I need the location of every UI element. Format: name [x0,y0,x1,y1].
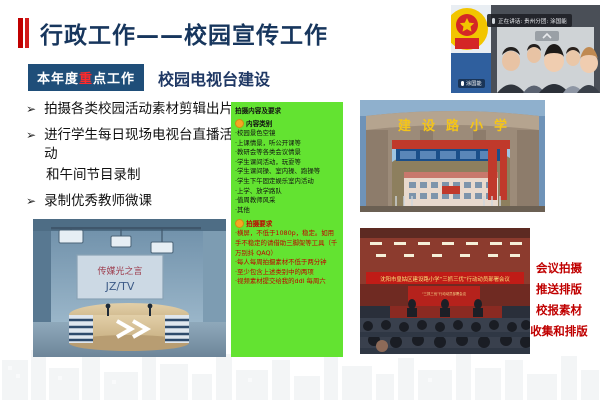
requirement-line: ·校园景色空镜 [235,129,339,139]
svg-text:小: 小 [470,119,483,134]
speaking-status-bar: 正在讲话: 贵州分团: 涂国能 [487,14,572,27]
school-gate-photo: 建设 路小学 [360,100,545,212]
svg-text:沈阳市皇姑区建设路小学“三抓三优”行动动员部署会议: 沈阳市皇姑区建设路小学“三抓三优”行动动员部署会议 [380,275,510,283]
list-item: ➢ 进行学生每日现场电视台直播活动 [26,126,241,164]
video-conference-window[interactable]: 正在讲话: 贵州分团: 涂国能 涂国能 [451,5,600,93]
list-item-label: 进行学生每日现场电视台直播活动 [44,126,241,164]
page-title: 行政工作——校园宣传工作 [40,16,328,50]
svg-text:传媒光之言: 传媒光之言 [97,265,142,277]
slide-title-row: 行政工作——校园宣传工作 [18,16,328,50]
right-label-list: 会议拍摄 推送排版 校报素材 收集和排版 [521,258,597,342]
requirement-line: ·每人每周拍摄素材不低于两分钟 [235,258,339,268]
microphone-icon [461,81,464,86]
speaking-status-text: 正在讲话: 贵州分团: 涂国能 [498,17,567,25]
content-category-heading: 内容类别 [235,118,339,128]
svg-text:JZ/TV: JZ/TV [105,280,135,293]
subtitle-row: 本年度重点工作 校园电视台建设 [28,64,270,91]
svg-text:路: 路 [446,118,460,134]
requirements-title: 拍摄内容及要求 [235,105,339,115]
svg-text:建: 建 [398,118,411,134]
auditorium-meeting-photo: 沈阳市皇姑区建设路小学“三抓三优”行动动员部署会议 “三抓三优”行动动员部署会议 [360,228,530,354]
section-subtitle: 校园电视台建设 [158,66,270,90]
status-badge: 本年度重点工作 [28,64,144,91]
right-label: 收集和排版 [521,321,597,342]
list-item-label: 拍摄各类校园活动素材剪辑出片 [44,100,233,119]
requirements-panel: 拍摄内容及要求 内容类别 ·校园景色空镜 ·上课情景，听公开课等 ·教研会等各类… [231,102,343,357]
list-item-label: 录制优秀教师微课 [44,192,152,211]
svg-text:设: 设 [422,119,436,134]
arrow-bullet-icon: ➢ [26,100,36,118]
requirement-line: ·学生课间活动，玩耍等 [235,158,339,168]
requirement-line: ·其他 [235,206,339,216]
participant-name-badge: 涂国能 [458,79,485,88]
requirement-line: ·教研会等各类会议情景 [235,148,339,158]
right-label: 会议拍摄 [521,258,597,279]
right-label: 推送排版 [521,279,597,300]
tv-studio-photo: 传媒光之言 JZ/TV [33,219,226,357]
requirement-line: ·视频素材提交给我的ddl 每周六 [235,277,339,287]
list-item: ➢ 录制优秀教师微课 [26,192,241,211]
orange-dot-icon [235,219,244,228]
list-item-continuation: 和午间节目录制 [26,166,241,185]
orange-dot-icon [235,119,244,128]
microphone-icon [492,18,495,24]
requirement-line: ·至少包含上述类别中的两项 [235,268,339,278]
svg-text:学: 学 [494,118,507,134]
requirement-line: ·值周教师风采 [235,196,339,206]
presentation-slide: 行政工作——校园宣传工作 本年度重点工作 校园电视台建设 ➢ 拍摄各类校园活动素… [0,0,600,400]
requirement-line: ·上课情景，听公开课等 [235,139,339,149]
title-accent-bars-icon [18,18,29,48]
svg-text:“三抓三优”行动动员部署会议: “三抓三优”行动动员部署会议 [422,291,467,296]
requirement-line: ·横屏，不低于1080p，稳定。如用手不稳定的请借助三脚架等工具（千万别抖 QA… [235,229,339,258]
participant-name-label: 涂国能 [466,80,482,87]
right-label: 校报素材 [521,300,597,321]
list-item-label: 和午间节目录制 [46,166,141,185]
list-item: ➢ 拍摄各类校园活动素材剪辑出片 [26,100,241,119]
shooting-requirement-heading: 拍摄要求 [235,218,339,228]
bullet-list: ➢ 拍摄各类校园活动素材剪辑出片 ➢ 进行学生每日现场电视台直播活动 和午间节目… [26,100,241,218]
arrow-bullet-icon: ➢ [26,192,36,210]
requirement-line: ·学生下午固定娱乐室内活动 [235,177,339,187]
requirement-line: ·学生课间操、室内操、跑操等 [235,167,339,177]
arrow-bullet-icon: ➢ [26,126,36,144]
requirement-line: ·上学、放学路队 [235,187,339,197]
